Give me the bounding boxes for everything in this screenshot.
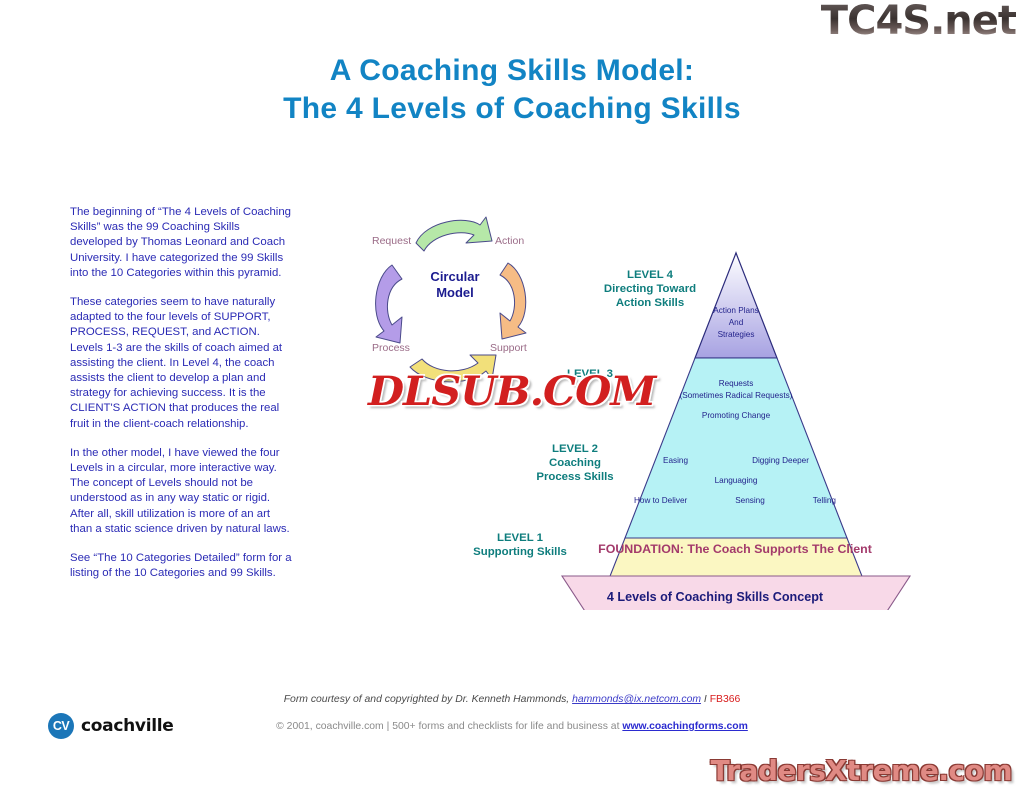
level-2-content-languaging: Languaging bbox=[715, 476, 758, 485]
page-title: A Coaching Skills Model: The 4 Levels of… bbox=[0, 52, 1024, 128]
level-1-label-line-2: Supporting Skills bbox=[455, 545, 585, 559]
level-2-label: LEVEL 2 Coaching Process Skills bbox=[515, 442, 635, 484]
level-4-content-2: And bbox=[691, 317, 781, 329]
body-paragraph-1: The beginning of “The 4 Levels of Coachi… bbox=[70, 205, 292, 281]
level-2-contents-row-2: Languaging bbox=[631, 475, 841, 487]
footer-credit: Form courtesy of and copyrighted by Dr. … bbox=[0, 694, 1024, 705]
circular-label-action: Action bbox=[495, 235, 524, 247]
page-root: TC4S.net A Coaching Skills Model: The 4 … bbox=[0, 0, 1024, 791]
title-line-1: A Coaching Skills Model: bbox=[0, 52, 1024, 90]
footer-email-link[interactable]: hammonds@ix.netcom.com bbox=[572, 694, 701, 705]
level-2-label-line-2: Coaching bbox=[515, 456, 635, 470]
tradersxtreme-watermark: TradersXtreme.com bbox=[711, 754, 1012, 787]
level-4-content-3: Strategies bbox=[691, 329, 781, 341]
title-line-2: The 4 Levels of Coaching Skills bbox=[0, 90, 1024, 128]
level-2-content-telling: Telling bbox=[813, 495, 836, 507]
level-4-contents: Action Plans And Strategies bbox=[691, 305, 781, 341]
cv-badge-icon: CV bbox=[48, 713, 74, 739]
coachville-wordmark: coachville bbox=[81, 716, 174, 736]
footer-form-code: FB366 bbox=[710, 694, 741, 705]
level-3-content-3: Promoting Change bbox=[636, 410, 836, 422]
circular-label-request: Request bbox=[372, 235, 411, 247]
foundation-label: FOUNDATION: The Coach Supports The Clien… bbox=[560, 542, 910, 556]
level-2-label-line-1: LEVEL 2 bbox=[515, 442, 635, 456]
level-4-label-line-3: Action Skills bbox=[585, 296, 715, 310]
level-2-content-easing: Easing bbox=[663, 455, 688, 467]
level-4-label: LEVEL 4 Directing Toward Action Skills bbox=[585, 268, 715, 310]
arrow-top-green bbox=[416, 217, 492, 251]
pyramid-diagram: Action Plans And Strategies Requests (So… bbox=[455, 250, 975, 610]
body-copy: The beginning of “The 4 Levels of Coachi… bbox=[70, 205, 292, 595]
level-3-content-2: (Sometimes Radical Requests) bbox=[636, 390, 836, 402]
dlsub-watermark: DLSUB.COM bbox=[368, 368, 655, 415]
level-3-content-1: Requests bbox=[636, 378, 836, 390]
level-4-label-line-1: LEVEL 4 bbox=[585, 268, 715, 282]
level-2-label-line-3: Process Skills bbox=[515, 470, 635, 484]
level-1-label: LEVEL 1 Supporting Skills bbox=[455, 531, 585, 559]
coachville-logo[interactable]: CV coachville bbox=[48, 713, 174, 739]
level-3-contents: Requests (Sometimes Radical Requests) Pr… bbox=[636, 378, 836, 422]
body-paragraph-3: In the other model, I have viewed the fo… bbox=[70, 446, 292, 537]
level-2-contents-row-1: Easing Digging Deeper bbox=[631, 455, 841, 467]
footer-site-link[interactable]: www.coachingforms.com bbox=[622, 721, 747, 732]
footer-credit-separator: I bbox=[701, 694, 710, 705]
arrow-left-purple bbox=[376, 265, 402, 343]
level-1-label-line-1: LEVEL 1 bbox=[455, 531, 585, 545]
circular-label-process: Process bbox=[372, 342, 410, 354]
level-2-content-how-to-deliver: How to Deliver bbox=[634, 495, 687, 507]
footer-copyright-prefix: © 2001, coachville.com | 500+ forms and … bbox=[276, 721, 622, 732]
body-paragraph-4: See “The 10 Categories Detailed” form fo… bbox=[70, 551, 292, 581]
tc4s-watermark: TC4S.net bbox=[821, 0, 1016, 44]
level-2-contents-row-3: How to Deliver Sensing Telling bbox=[610, 495, 860, 507]
level-2-content-sensing: Sensing bbox=[735, 495, 765, 507]
body-paragraph-2: These categories seem to have naturally … bbox=[70, 295, 292, 432]
level-4-label-line-2: Directing Toward bbox=[585, 282, 715, 296]
pyramid-caption: 4 Levels of Coaching Skills Concept bbox=[455, 590, 975, 604]
footer-credit-prefix: Form courtesy of and copyrighted by Dr. … bbox=[284, 694, 572, 705]
level-2-content-digging-deeper: Digging Deeper bbox=[752, 455, 809, 467]
